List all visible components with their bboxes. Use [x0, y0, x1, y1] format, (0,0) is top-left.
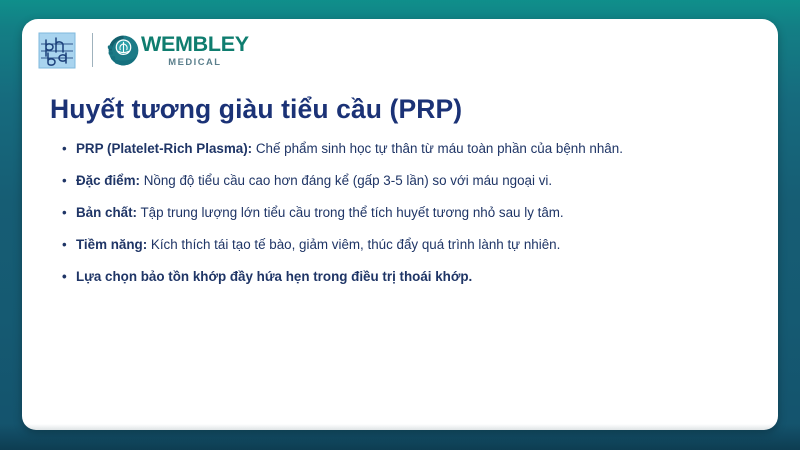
bullet-rest: Chế phẩm sinh học tự thân từ máu toàn ph…: [252, 141, 623, 156]
bullet-marker: •: [62, 171, 67, 190]
bullet-rest: Kích thích tái tạo tế bào, giảm viêm, th…: [147, 237, 560, 252]
list-item: •Lựa chọn bảo tồn khớp đầy hứa hẹn trong…: [60, 267, 750, 286]
wembley-emblem-icon: [107, 34, 140, 67]
list-item: •Đặc điểm: Nồng độ tiểu cầu cao hơn đáng…: [60, 171, 750, 190]
page-title: Huyết tương giàu tiểu cầu (PRP): [50, 94, 750, 125]
bullet-marker: •: [62, 235, 67, 254]
bullet-list: •PRP (Platelet-Rich Plasma): Chế phẩm si…: [60, 139, 750, 286]
bullet-rest: Nồng độ tiểu cầu cao hơn đáng kể (gấp 3-…: [140, 173, 552, 188]
bullet-lead: Tiềm năng:: [76, 237, 147, 252]
bullet-marker: •: [62, 267, 67, 286]
bhga-logo-icon: [38, 32, 76, 69]
bullet-lead: Lựa chọn bảo tồn khớp đầy hứa hẹn trong …: [76, 269, 472, 284]
list-item: •Bản chất: Tập trung lượng lớn tiểu cầu …: [60, 203, 750, 222]
wembley-name: WEMBLEY: [141, 34, 249, 56]
wembley-wordmark: WEMBLEY MEDICAL: [141, 34, 249, 67]
logo-bar: WEMBLEY MEDICAL: [38, 28, 249, 72]
bullet-marker: •: [62, 203, 67, 222]
bullet-rest: Tập trung lượng lớn tiểu cầu trong thể t…: [137, 205, 564, 220]
list-item: •Tiềm năng: Kích thích tái tạo tế bào, g…: [60, 235, 750, 254]
wembley-subtitle: MEDICAL: [141, 57, 249, 66]
bullet-lead: Bản chất:: [76, 205, 137, 220]
logo-divider: [92, 33, 93, 67]
slide-content-panel: WEMBLEY MEDICAL Huyết tương giàu tiểu cầ…: [22, 19, 778, 430]
list-item: •PRP (Platelet-Rich Plasma): Chế phẩm si…: [60, 139, 750, 158]
wembley-logo: WEMBLEY MEDICAL: [107, 34, 249, 67]
bullet-marker: •: [62, 139, 67, 158]
bullet-lead: PRP (Platelet-Rich Plasma):: [76, 141, 252, 156]
bullet-lead: Đặc điểm:: [76, 173, 140, 188]
slide-root: WEMBLEY MEDICAL Huyết tương giàu tiểu cầ…: [0, 0, 800, 450]
